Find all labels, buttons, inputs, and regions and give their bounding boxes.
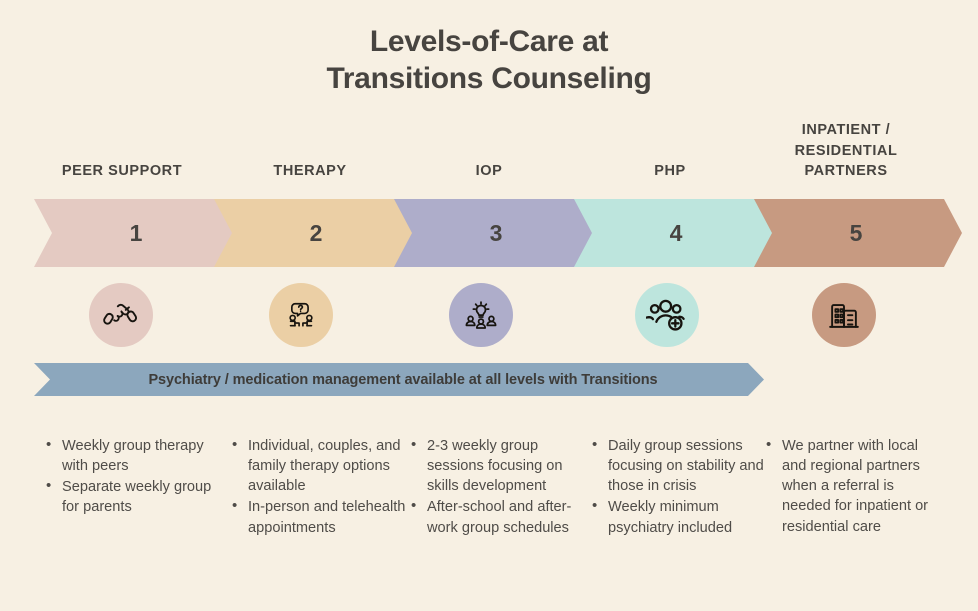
level-details-column-2: Individual, couples, and family therapy … bbox=[228, 436, 410, 539]
list-item: In-person and telehealth appointments bbox=[228, 497, 410, 537]
level-number-4: 4 bbox=[670, 220, 683, 247]
list-item: After-school and after-work group schedu… bbox=[407, 497, 587, 537]
stage-label-5: INPATIENT /RESIDENTIALPARTNERS bbox=[736, 120, 956, 182]
stage-label-line: PEER SUPPORT bbox=[12, 161, 232, 182]
page-title-line-2: Transitions Counseling bbox=[0, 61, 978, 98]
list-item: Daily group sessions focusing on stabili… bbox=[588, 436, 768, 496]
level-number-2: 2 bbox=[310, 220, 323, 247]
stage-label-line: PARTNERS bbox=[736, 161, 956, 182]
psychiatry-banner-label: Psychiatry / medication management avail… bbox=[34, 363, 764, 396]
stage-labels-row: PEER SUPPORTTHERAPYIOPPHPINPATIENT /RESI… bbox=[0, 110, 978, 182]
bullet-list: Weekly group therapy with peersSeparate … bbox=[42, 436, 220, 518]
bullet-list: We partner with local and regional partn… bbox=[762, 436, 942, 537]
level-chevron-5[interactable]: 5 bbox=[754, 199, 962, 267]
bullet-list: Individual, couples, and family therapy … bbox=[228, 436, 410, 538]
level-chevron-2[interactable]: 2 bbox=[214, 199, 422, 267]
levels-icon-row bbox=[0, 283, 978, 349]
page-title: Levels-of-Care at Transitions Counseling bbox=[0, 0, 978, 97]
level-details-column-4: Daily group sessions focusing on stabili… bbox=[588, 436, 768, 539]
list-item: Weekly group therapy with peers bbox=[42, 436, 220, 476]
levels-chevron-row: 12345 bbox=[0, 199, 978, 267]
list-item: Individual, couples, and family therapy … bbox=[228, 436, 410, 496]
list-item: Weekly minimum psychiatry included bbox=[588, 497, 768, 537]
hospital-building-icon bbox=[812, 283, 876, 347]
counseling-session-icon bbox=[269, 283, 333, 347]
stage-label-line: RESIDENTIAL bbox=[736, 141, 956, 162]
page-title-line-1: Levels-of-Care at bbox=[0, 24, 978, 61]
list-item: We partner with local and regional partn… bbox=[762, 436, 942, 537]
level-number-3: 3 bbox=[490, 220, 503, 247]
level-chevron-3[interactable]: 3 bbox=[394, 199, 602, 267]
level-details-column-3: 2-3 weekly group sessions focusing on sk… bbox=[407, 436, 587, 539]
stage-label-line: INPATIENT / bbox=[736, 120, 956, 141]
levels-detail-columns: Weekly group therapy with peersSeparate … bbox=[0, 436, 978, 606]
level-number-5: 5 bbox=[850, 220, 863, 247]
level-details-column-1: Weekly group therapy with peersSeparate … bbox=[42, 436, 220, 519]
level-details-column-5: We partner with local and regional partn… bbox=[762, 436, 942, 538]
stage-label-1: PEER SUPPORT bbox=[12, 161, 232, 182]
psychiatry-banner: Psychiatry / medication management avail… bbox=[34, 363, 764, 396]
level-chevron-1[interactable]: 1 bbox=[34, 199, 242, 267]
handshake-icon bbox=[89, 283, 153, 347]
level-chevron-4[interactable]: 4 bbox=[574, 199, 782, 267]
bullet-list: Daily group sessions focusing on stabili… bbox=[588, 436, 768, 538]
list-item: 2-3 weekly group sessions focusing on sk… bbox=[407, 436, 587, 496]
list-item: Separate weekly group for parents bbox=[42, 477, 220, 517]
bullet-list: 2-3 weekly group sessions focusing on sk… bbox=[407, 436, 587, 538]
group-lightbulb-icon bbox=[449, 283, 513, 347]
group-add-icon bbox=[635, 283, 699, 347]
level-number-1: 1 bbox=[130, 220, 143, 247]
